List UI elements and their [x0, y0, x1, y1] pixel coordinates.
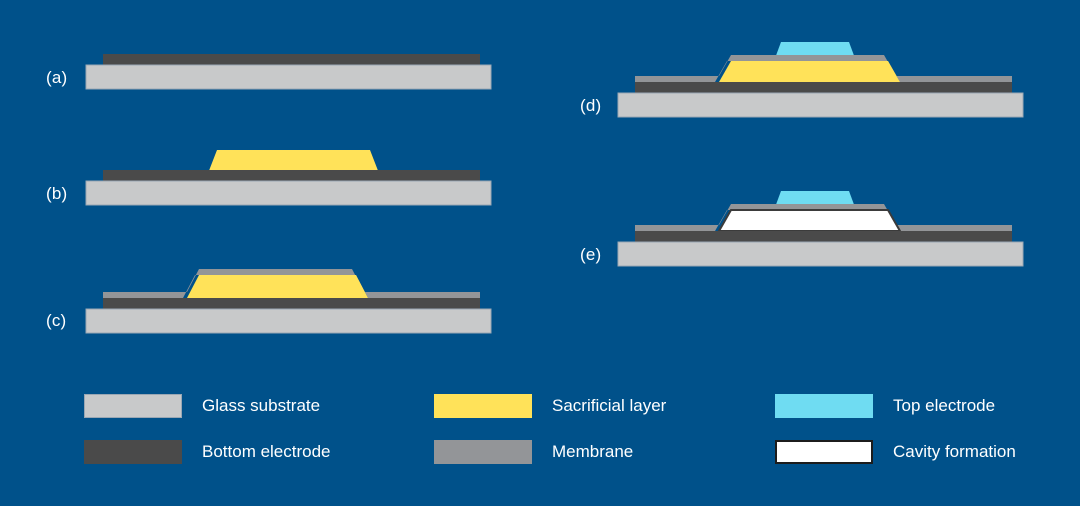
legend-item-cavity-formation: Cavity formation: [775, 437, 1016, 467]
legend-item-sacrificial-layer: Sacrificial layer: [434, 391, 666, 421]
legend-label-bottom-electrode: Bottom electrode: [202, 442, 331, 462]
legend-label-glass-substrate: Glass substrate: [202, 396, 320, 416]
legend-swatch-bottom-electrode: [84, 440, 182, 464]
legend-column-3: Top electrode Cavity formation: [775, 378, 1080, 478]
legend-swatch-top-electrode: [775, 394, 873, 418]
panel-label-e: (e): [580, 245, 601, 265]
panel-label-d: (d): [580, 96, 601, 116]
legend-item-membrane: Membrane: [434, 437, 633, 467]
legend-item-bottom-electrode: Bottom electrode: [84, 437, 331, 467]
bottom-electrode-layer: [103, 298, 480, 309]
glass-substrate-layer: [86, 181, 491, 205]
bottom-electrode-layer: [635, 82, 1012, 93]
legend-column-1: Glass substrate Bottom electrode: [84, 378, 424, 478]
glass-substrate-layer: [618, 93, 1023, 117]
glass-substrate-layer: [86, 309, 491, 333]
legend-label-sacrificial-layer: Sacrificial layer: [552, 396, 666, 416]
panel-label-c: (c): [46, 311, 66, 331]
sacrificial-layer-layer: [187, 275, 368, 298]
bottom-electrode-layer: [103, 170, 480, 181]
legend-column-2: Sacrificial layer Membrane: [434, 378, 774, 478]
legend: Glass substrate Bottom electrode Sacrifi…: [0, 378, 1080, 478]
legend-label-membrane: Membrane: [552, 442, 633, 462]
panel-label-b: (b): [46, 184, 67, 204]
legend-item-top-electrode: Top electrode: [775, 391, 995, 421]
legend-swatch-membrane: [434, 440, 532, 464]
legend-swatch-sacrificial-layer: [434, 394, 532, 418]
bottom-electrode-layer: [103, 54, 480, 65]
cavity-formation-layer: [719, 210, 900, 231]
sacrificial-layer-layer: [719, 61, 900, 82]
legend-swatch-glass-substrate: [84, 394, 182, 418]
legend-swatch-cavity-formation: [775, 440, 873, 464]
bottom-electrode-layer: [635, 231, 1012, 242]
legend-item-glass-substrate: Glass substrate: [84, 391, 320, 421]
glass-substrate-layer: [86, 65, 491, 89]
legend-label-cavity-formation: Cavity formation: [893, 442, 1016, 462]
legend-label-top-electrode: Top electrode: [893, 396, 995, 416]
panel-label-a: (a): [46, 68, 67, 88]
panel-a: [86, 54, 491, 89]
glass-substrate-layer: [618, 242, 1023, 266]
